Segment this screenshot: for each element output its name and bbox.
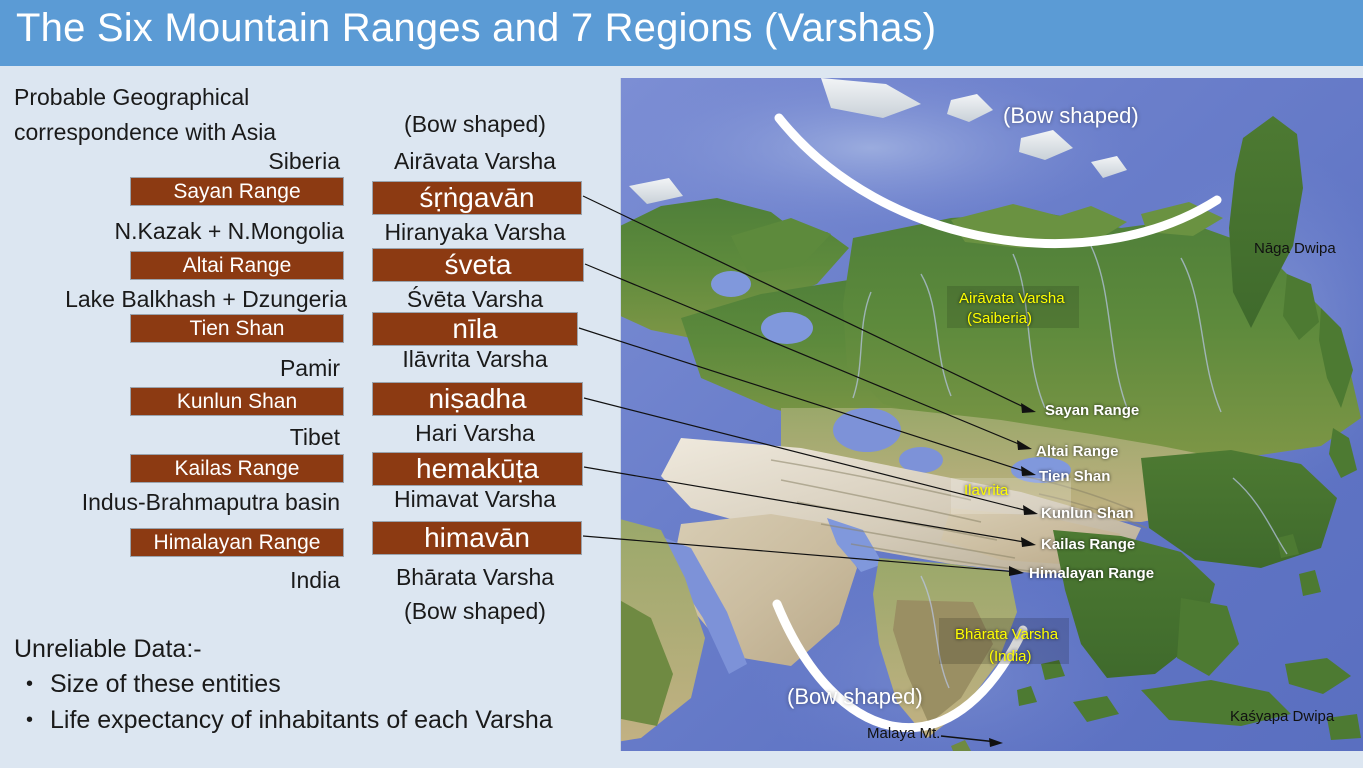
asia-relief-map[interactable]: (Bow shaped) (Bow shaped) Airāvata Varsh… xyxy=(620,78,1363,751)
map-label-kailas-range: Kailas Range xyxy=(1041,536,1135,553)
list-item: Life expectancy of inhabitants of each V… xyxy=(14,702,553,738)
list-item: Size of these entities xyxy=(14,666,553,702)
range-chip-kunlun[interactable]: Kunlun Shan xyxy=(130,387,344,416)
varsha-note-sveta: Śvēta Varsha xyxy=(375,284,575,314)
region-note-tibet: Tibet xyxy=(0,422,340,452)
sanskrit-chip-himavan[interactable]: himavān xyxy=(372,521,582,555)
varsha-note-bow-top: (Bow shaped) xyxy=(375,109,575,139)
map-label-malaya-mt: Malaya Mt. xyxy=(867,725,940,742)
region-note-india: India xyxy=(0,565,340,595)
sanskrit-chip-nisadha[interactable]: niṣadha xyxy=(372,382,583,416)
region-note-nkazak: N.Kazak + N.Mongolia xyxy=(0,216,344,246)
map-label-airavata-varsha: Airāvata Varsha xyxy=(959,290,1065,307)
range-chip-himalayan[interactable]: Himalayan Range xyxy=(130,528,344,557)
unreliable-data-heading: Unreliable Data:- xyxy=(14,632,553,666)
sanskrit-chip-nila[interactable]: nīla xyxy=(372,312,578,346)
range-chip-sayan[interactable]: Sayan Range xyxy=(130,177,344,206)
map-label-naga-dwipa: Nāga Dwipa xyxy=(1254,240,1336,257)
varsha-note-ilavrita: Ilāvrita Varsha xyxy=(375,344,575,374)
slide: The Six Mountain Ranges and 7 Regions (V… xyxy=(0,0,1363,768)
map-label-altai-range: Altai Range xyxy=(1036,443,1119,460)
map-label-sayan-range: Sayan Range xyxy=(1045,402,1139,419)
unreliable-data-list: Size of these entities Life expectancy o… xyxy=(14,666,553,738)
unreliable-data-block: Unreliable Data:- Size of these entities… xyxy=(14,632,553,738)
map-label-india: (India) xyxy=(989,648,1032,665)
range-chip-kailas[interactable]: Kailas Range xyxy=(130,454,344,483)
map-label-ilavrita: Ilavrita xyxy=(964,482,1008,499)
region-note-siberia: Siberia xyxy=(0,146,340,176)
sanskrit-chip-hemakuta[interactable]: hemakūṭa xyxy=(372,452,583,486)
page-title: The Six Mountain Ranges and 7 Regions (V… xyxy=(16,6,936,51)
map-label-himalayan-range: Himalayan Range xyxy=(1029,565,1154,582)
map-label-saiberia: (Saiberia) xyxy=(967,310,1032,327)
map-bow-top-label: (Bow shaped) xyxy=(1003,103,1139,129)
intro-line-1: Probable Geographical xyxy=(14,82,249,112)
varsha-note-airavata: Airāvata Varsha xyxy=(375,146,575,176)
title-bar: The Six Mountain Ranges and 7 Regions (V… xyxy=(0,0,1363,66)
sanskrit-chip-srngavan[interactable]: śṛṅgavān xyxy=(372,181,582,215)
region-note-balkhash: Lake Balkhash + Dzungeria xyxy=(0,284,347,314)
map-bow-bottom-label: (Bow shaped) xyxy=(787,684,923,710)
region-note-indus: Indus-Brahmaputra basin xyxy=(0,487,340,517)
varsha-note-bharata: Bhārata Varsha xyxy=(375,562,575,592)
map-label-bharata-varsha: Bhārata Varsha xyxy=(955,626,1058,643)
range-chip-altai[interactable]: Altai Range xyxy=(130,251,344,280)
varsha-note-hiranyaka: Hiranyaka Varsha xyxy=(375,217,575,247)
region-note-pamir: Pamir xyxy=(0,353,340,383)
varsha-note-bow-bottom: (Bow shaped) xyxy=(375,596,575,626)
map-label-tien-shan: Tien Shan xyxy=(1039,468,1110,485)
varsha-note-himavat: Himavat Varsha xyxy=(375,484,575,514)
range-chip-tienshan[interactable]: Tien Shan xyxy=(130,314,344,343)
intro-line-2: correspondence with Asia xyxy=(14,117,276,147)
sanskrit-chip-sveta[interactable]: śveta xyxy=(372,248,584,282)
varsha-note-hari: Hari Varsha xyxy=(375,418,575,448)
map-label-kasyapa-dwipa: Kaśyapa Dwipa xyxy=(1230,708,1334,725)
map-label-kunlun-shan: Kunlun Shan xyxy=(1041,505,1134,522)
